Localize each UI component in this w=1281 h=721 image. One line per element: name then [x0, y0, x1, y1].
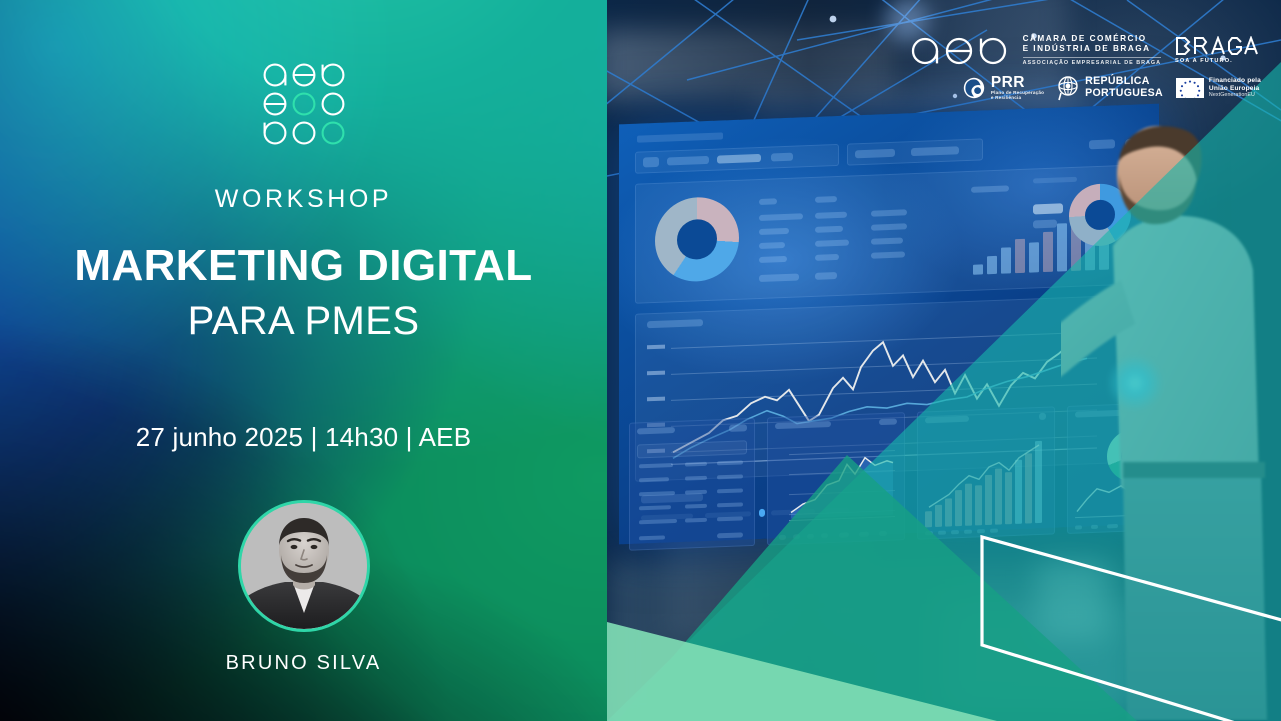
republica-portuguesa-logo: REPÚBLICA PORTUGUESA [1057, 75, 1163, 101]
prr-logo: PRR Plano de Recuperação e Resiliência [963, 75, 1044, 101]
speaker-block: BRUNO SILVA [0, 500, 607, 675]
speaker-name: BRUNO SILVA [0, 652, 607, 675]
eu-text: Financiado pela União Europeia NextGener… [1209, 77, 1261, 99]
speaker-photo [241, 503, 367, 629]
workshop-kicker: WORKSHOP [0, 185, 607, 214]
armillary-sphere-icon [1057, 75, 1079, 101]
cc-line3: ASSOCIAÇÃO EMPRESARIAL DE BRAGA [1023, 60, 1161, 67]
prr-sub2: e Resiliência [991, 96, 1044, 101]
cc-line2: E INDÚSTRIA DE BRAGA [1023, 44, 1161, 54]
republica-line1: REPÚBLICA [1085, 76, 1163, 88]
prr-name: PRR [991, 75, 1044, 91]
prr-mark-icon [963, 77, 985, 99]
eu-line2: União Europeia [1209, 85, 1261, 93]
cc-divider [1023, 57, 1161, 58]
logo-row-primary: CÂMARA DE COMÉRCIO E INDÚSTRIA DE BRAGA … [911, 34, 1261, 67]
page-title: MARKETING DIGITAL [0, 243, 607, 289]
poster-canvas: WORKSHOP MARKETING DIGITAL PARA PMES 27 … [0, 0, 1281, 721]
right-panel: CÂMARA DE COMÉRCIO E INDÚSTRIA DE BRAGA … [607, 0, 1281, 721]
event-datetime: 27 junho 2025 | 14h30 | AEB [0, 422, 607, 453]
eu-funding-logo: Financiado pela União Europeia NextGener… [1176, 77, 1261, 99]
left-panel: WORKSHOP MARKETING DIGITAL PARA PMES 27 … [0, 0, 607, 721]
eu-line1: Financiado pela [1209, 77, 1261, 85]
republica-line2: PORTUGUESA [1085, 88, 1163, 100]
institutional-logo-bar: CÂMARA DE COMÉRCIO E INDÚSTRIA DE BRAGA … [881, 34, 1261, 101]
braga-logo: SOA A FUTURO. [1175, 36, 1261, 64]
eu-line3: NextGenerationEU [1209, 92, 1261, 98]
camara-comercio-text: CÂMARA DE COMÉRCIO E INDÚSTRIA DE BRAGA … [1023, 34, 1161, 67]
braga-tagline: SOA A FUTURO. [1175, 58, 1233, 64]
braga-wordmark-icon [1175, 36, 1261, 56]
avatar [238, 500, 370, 632]
aeb-logo-icon [262, 62, 346, 151]
eu-flag-icon [1176, 78, 1204, 98]
republica-text: REPÚBLICA PORTUGUESA [1085, 76, 1163, 99]
aeb-wordmark-icon [911, 35, 1009, 65]
page-subtitle: PARA PMES [0, 300, 607, 343]
left-content: WORKSHOP MARKETING DIGITAL PARA PMES 27 … [0, 0, 607, 721]
logo-row-funders: PRR Plano de Recuperação e Resiliência [963, 75, 1261, 101]
prr-text: PRR Plano de Recuperação e Resiliência [991, 75, 1044, 101]
cc-line1: CÂMARA DE COMÉRCIO [1023, 34, 1161, 44]
